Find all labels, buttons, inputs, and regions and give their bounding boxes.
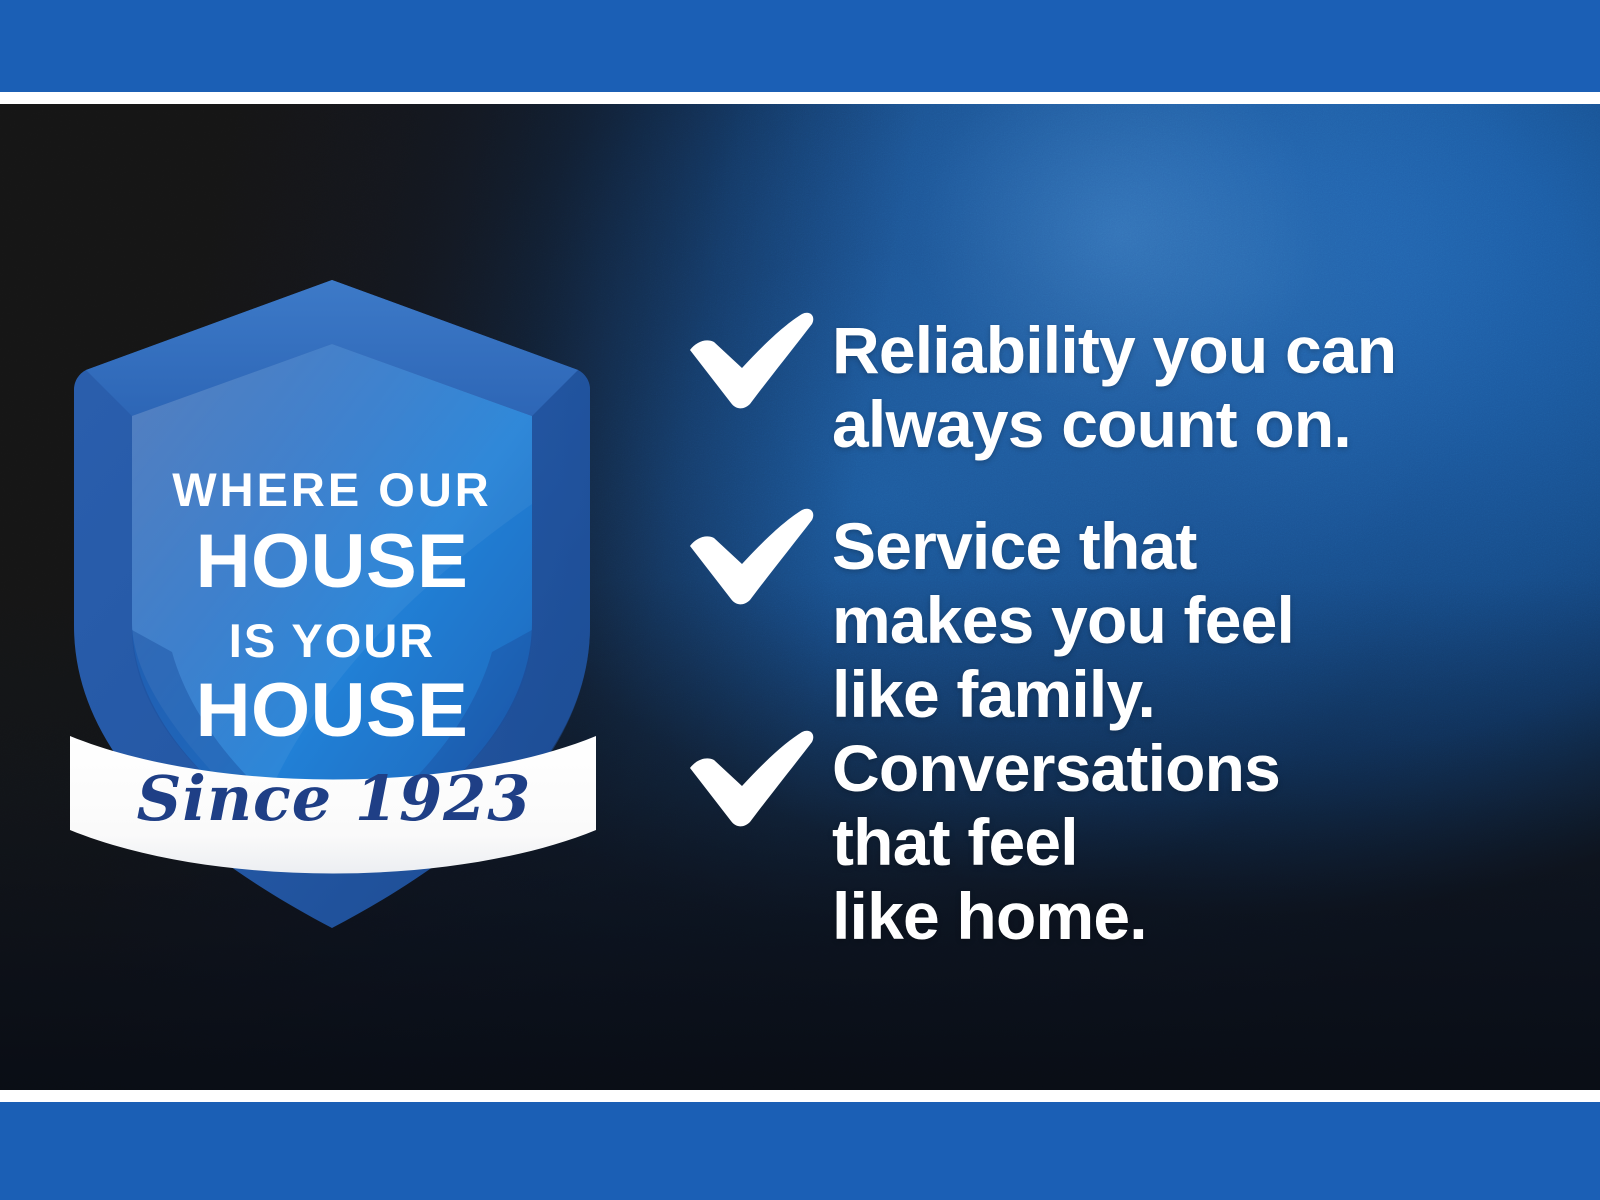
badge-since-year: Since 1923 (137, 762, 532, 835)
bottom-brand-bar (0, 1102, 1600, 1200)
badge-line-is-your: IS YOUR (229, 614, 435, 667)
benefit-text: Reliability you can always count on. (832, 314, 1396, 462)
top-white-divider (0, 92, 1600, 104)
bottom-white-divider (0, 1090, 1600, 1102)
check-icon (680, 502, 820, 606)
benefit-text: Conversations that feel like home. (832, 732, 1280, 954)
badge-line-house-1: HOUSE (196, 519, 469, 604)
check-icon (680, 306, 820, 410)
check-icon (680, 724, 820, 828)
badge-line-where-our: WHERE OUR (172, 463, 491, 516)
badge-line-house-2: HOUSE (196, 668, 469, 753)
top-brand-bar (0, 0, 1600, 92)
benefit-item-conversations: Conversations that feel like home. (680, 724, 1280, 954)
main-content-stage: WHERE OUR HOUSE IS YOUR HOUSE Since 1923… (0, 104, 1600, 1090)
benefit-item-service: Service that makes you feel like family. (680, 502, 1294, 732)
house-shield-badge: WHERE OUR HOUSE IS YOUR HOUSE Since 1923 (62, 274, 602, 934)
benefit-text: Service that makes you feel like family. (832, 510, 1294, 732)
promo-graphic-canvas: WHERE OUR HOUSE IS YOUR HOUSE Since 1923… (0, 0, 1600, 1200)
benefit-item-reliability: Reliability you can always count on. (680, 306, 1396, 462)
